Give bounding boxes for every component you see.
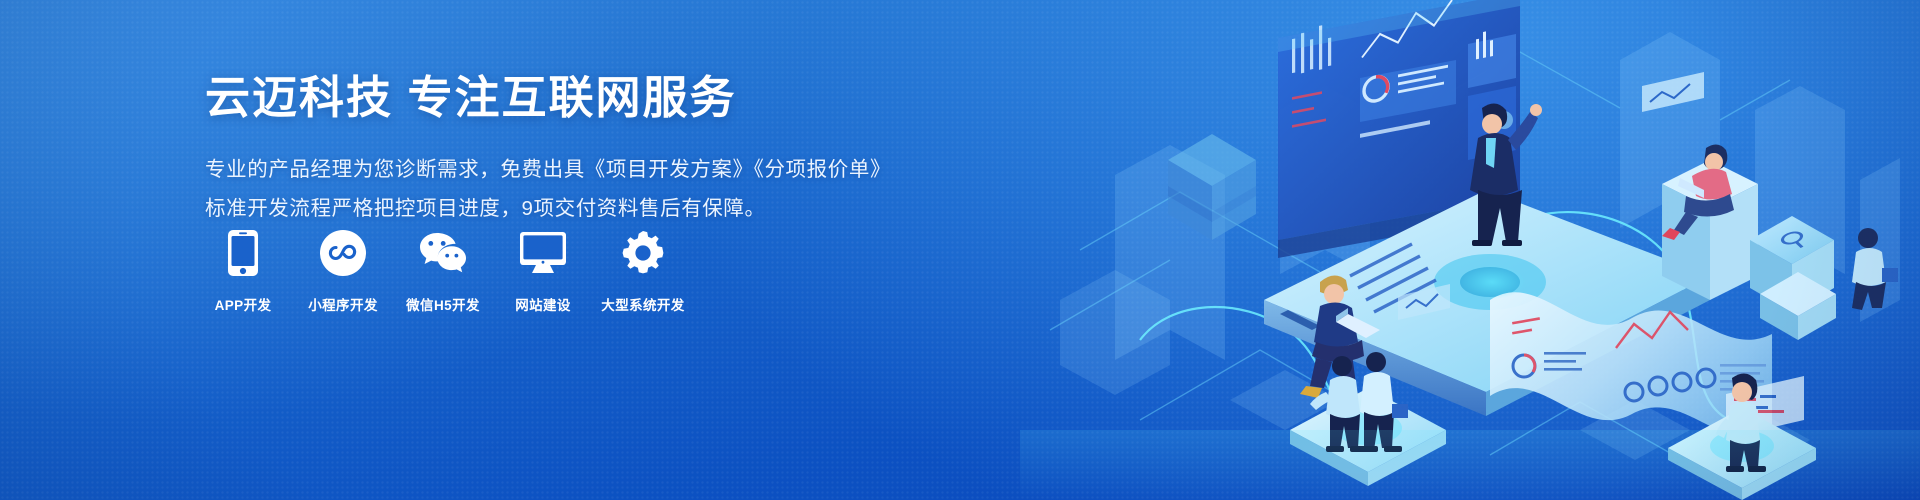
service-item-wechat-h5[interactable]: 微信H5开发 [406,228,480,314]
hero-banner: 云迈科技 专注互联网服务 专业的产品经理为您诊断需求，免费出具《项目开发方案》《… [0,0,1920,500]
service-label-website: 网站建设 [515,294,571,314]
service-label-app: APP开发 [215,294,272,314]
isometric-data-dashboard-illustration [1020,0,1920,500]
hero-copy: 云迈科技 专注互联网服务 专业的产品经理为您诊断需求，免费出具《项目开发方案》《… [205,72,925,228]
mobile-phone-icon [218,228,268,278]
service-label-large-system: 大型系统开发 [601,294,684,314]
gear-icon [618,228,668,278]
service-list: APP开发 小程序开发 [206,228,680,314]
mini-program-icon [318,228,368,278]
service-label-mini-program: 小程序开发 [308,294,378,314]
service-item-app[interactable]: APP开发 [206,228,280,314]
service-item-mini-program[interactable]: 小程序开发 [306,228,380,314]
subtitle-line-2: 标准开发流程严格把控项目进度，9项交付资料售后有保障。 [205,189,925,228]
service-item-large-system[interactable]: 大型系统开发 [606,228,680,314]
monitor-icon [518,228,568,278]
service-item-website[interactable]: 网站建设 [506,228,580,314]
service-label-wechat-h5: 微信H5开发 [406,294,480,314]
wechat-icon [418,228,468,278]
subtitle-line-1: 专业的产品经理为您诊断需求，免费出具《项目开发方案》《分项报价单》 [205,150,925,189]
page-title: 云迈科技 专注互联网服务 [205,72,925,124]
